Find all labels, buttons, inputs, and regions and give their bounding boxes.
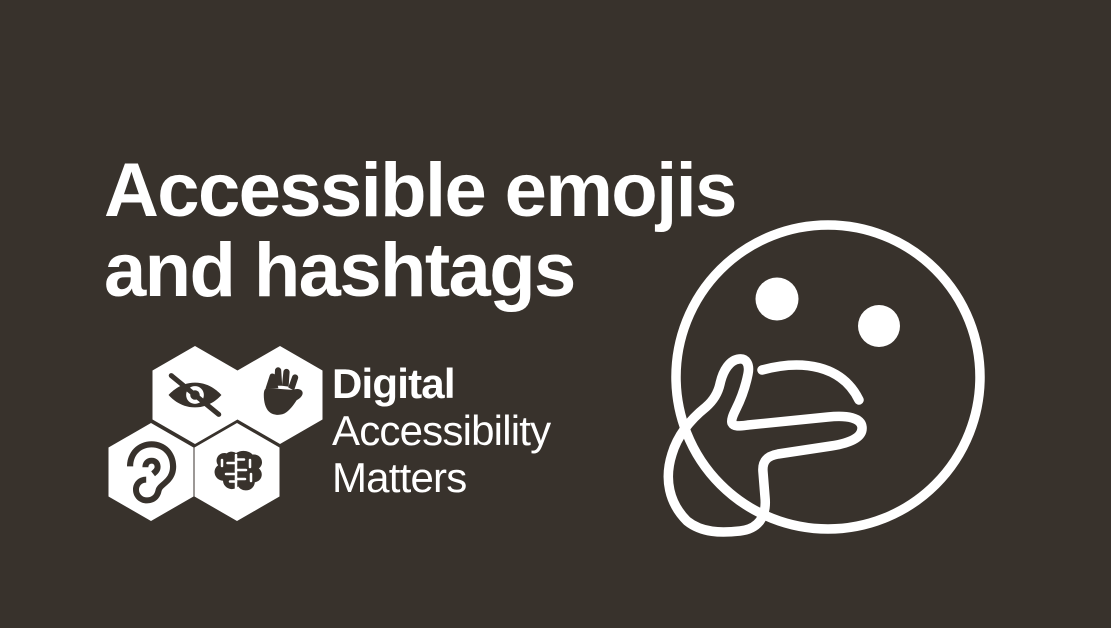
logo-hex-vision — [153, 346, 238, 444]
logo-hexagon-cluster — [104, 344, 324, 524]
logo-wordmark-line-1: Digital — [332, 360, 550, 407]
page-title: Accessible emojis and hashtags — [104, 151, 744, 311]
artwork-alt-text: Thinking face emoji outline illustration — [0, 0, 1, 1]
logo-wordmark-line-3: Matters — [332, 454, 550, 501]
logo-wordmark: Digital Accessibility Matters — [332, 360, 550, 501]
emoji-left-eye — [756, 278, 799, 321]
slide-canvas: Accessible emojis and hashtags — [0, 0, 1111, 628]
logo-digital-accessibility-matters: Digital Accessibility Matters — [104, 344, 604, 524]
logo-hex-hearing — [109, 423, 194, 521]
logo-wordmark-line-2: Accessibility — [332, 407, 550, 454]
thinking-face-emoji-icon — [662, 211, 994, 543]
logo-hex-cognitive — [195, 423, 280, 521]
logo-hex-motor — [238, 346, 323, 444]
emoji-mouth — [762, 365, 859, 400]
emoji-right-eye — [858, 305, 900, 347]
